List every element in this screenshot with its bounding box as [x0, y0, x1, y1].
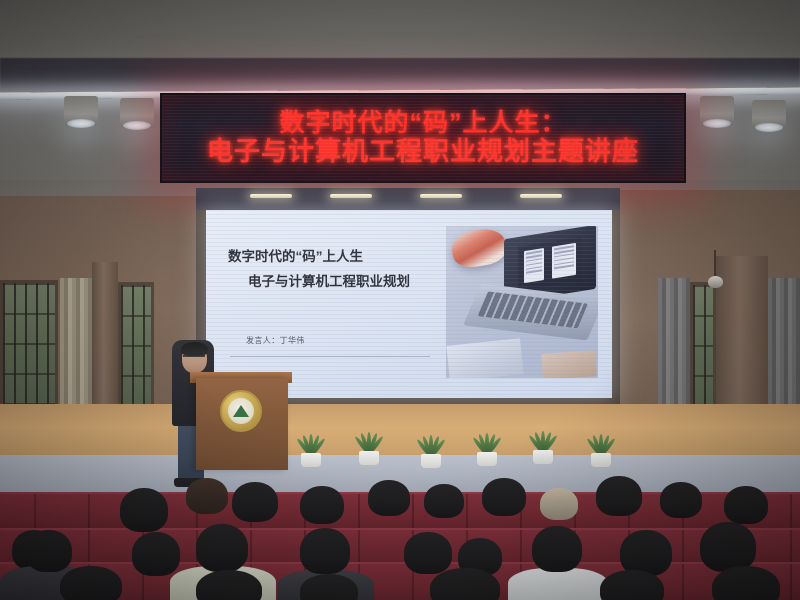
audience-head	[424, 484, 464, 518]
camera-wire	[714, 250, 716, 278]
valance-light-icon	[250, 194, 292, 198]
audience-head	[482, 478, 526, 516]
security-camera-icon	[708, 276, 723, 288]
led-banner-line-1: 数字时代的“码”上人生：	[279, 109, 566, 138]
audience-head	[300, 528, 350, 574]
audience-head	[540, 488, 578, 520]
audience-head	[26, 530, 72, 572]
valance-light-icon	[420, 194, 462, 198]
led-banner-line-2: 电子与计算机工程职业规划主题讲座	[207, 137, 639, 167]
laptop-screen	[518, 237, 582, 291]
laptop-keyboard	[478, 291, 589, 328]
valance-light-icon	[520, 194, 562, 198]
audience-head	[196, 524, 248, 572]
downlight-icon	[752, 100, 786, 130]
downlight-icon	[700, 96, 734, 126]
speaker-hair	[181, 342, 208, 356]
audience-head	[430, 568, 500, 600]
notebook-icon	[446, 338, 523, 378]
audience-head	[60, 566, 122, 600]
audience-head	[196, 570, 262, 600]
bowl-icon	[449, 226, 508, 270]
audience-head	[532, 526, 582, 572]
audience-head	[660, 482, 702, 518]
audience-head	[404, 532, 452, 574]
glasses-icon	[183, 355, 205, 360]
audience-head	[368, 480, 410, 516]
document-thumbnail	[524, 248, 544, 283]
downlight-icon	[64, 96, 98, 126]
emblem-mark	[233, 405, 249, 417]
stage-back-wall	[0, 404, 800, 462]
laptop-base	[463, 283, 598, 340]
potted-plant	[290, 427, 332, 467]
audience-head	[600, 570, 664, 600]
audience-head	[120, 488, 168, 532]
audience-head	[596, 476, 642, 516]
slide-title-line-1: 数字时代的“码”上人生	[228, 249, 363, 264]
audience-head	[300, 486, 344, 524]
emblem-inner	[228, 398, 254, 424]
potted-plant	[348, 425, 390, 465]
potted-plant	[522, 424, 564, 464]
audience-head	[724, 486, 768, 524]
document-thumbnail	[552, 243, 576, 279]
potted-plant	[410, 428, 452, 468]
audience-head	[132, 532, 180, 576]
potted-plant	[580, 427, 622, 467]
audience-head	[700, 522, 756, 572]
photograph-scene: 数字时代的“码”上人生： 电子与计算机工程职业规划主题讲座 数字时代的“码”上人…	[0, 0, 800, 600]
screen-valance	[196, 188, 620, 210]
led-banner: 数字时代的“码”上人生： 电子与计算机工程职业规划主题讲座	[160, 93, 686, 183]
audience-head	[300, 574, 358, 600]
audience-head	[186, 478, 228, 514]
audience-head	[232, 482, 278, 522]
audience-shoulders	[508, 568, 608, 600]
valance-light-icon	[330, 194, 372, 198]
downlight-icon	[120, 98, 154, 128]
slide-speaker-label: 发言人：丁华伟	[246, 335, 305, 346]
slide-photo-laptop	[446, 226, 598, 378]
audience-head	[712, 566, 780, 600]
slide-title: 数字时代的“码”上人生 电子与计算机工程职业规划	[228, 250, 443, 289]
audience-area	[0, 470, 800, 600]
potted-plant	[466, 426, 508, 466]
desk-item	[541, 350, 597, 378]
slide-divider	[230, 356, 430, 357]
projection-screen: 数字时代的“码”上人生 电子与计算机工程职业规划 发言人：丁华伟	[206, 210, 612, 398]
slide-title-line-2: 电子与计算机工程职业规划	[248, 275, 443, 289]
university-emblem-icon	[220, 390, 262, 432]
